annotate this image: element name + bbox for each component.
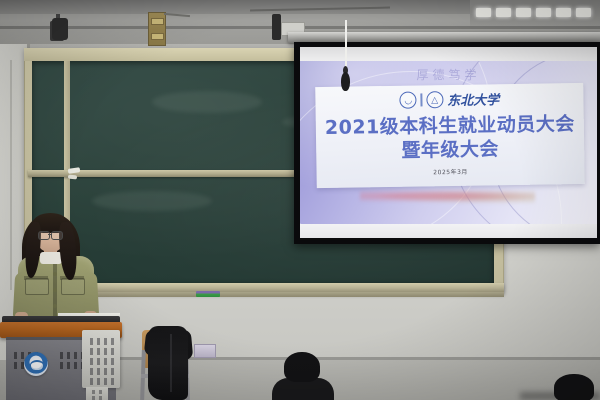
chalk-icon[interactable] — [68, 175, 77, 180]
slide-floral-ornament — [360, 188, 535, 204]
ceiling-lights — [470, 0, 600, 26]
light-tube — [496, 8, 511, 17]
university-seal-triangle-icon: △ — [426, 91, 443, 108]
seal-glyph: ◡ — [404, 96, 412, 105]
seal-glyph: △ — [431, 96, 438, 105]
slide-content-card: ◡ △ 东北大学 2021级本科生就业动员大会 暨年级大会 2025年3月 — [315, 83, 585, 188]
jacket-button — [53, 288, 57, 292]
board-eraser-icon[interactable] — [196, 291, 220, 297]
light-tube — [556, 8, 571, 17]
logo-divider — [421, 93, 423, 106]
eyeglasses-bridge — [48, 234, 52, 235]
jacket-button — [53, 304, 57, 308]
classroom-photo: 厚德笃学 ◡ △ 东北大学 2021级本科生就业动员大会 暨年级大会 2025年… — [0, 0, 600, 400]
wall-shelf-box — [194, 344, 216, 358]
door-seam — [10, 60, 12, 290]
audience-member-head — [284, 352, 320, 382]
podium-base-vent — [92, 390, 102, 400]
screen-blank-bottom — [300, 224, 597, 238]
slide-date: 2025年3月 — [317, 165, 585, 178]
screen-cord-handle[interactable] — [341, 72, 350, 91]
wall-control-box[interactable] — [148, 12, 166, 46]
presenter-collar — [40, 252, 62, 264]
jacket-button — [53, 272, 57, 276]
loudspeaker-icon — [272, 14, 281, 40]
draped-coat[interactable] — [148, 326, 188, 400]
podium-side-vent — [90, 338, 114, 385]
chalk-smudge — [152, 91, 262, 113]
light-tube — [516, 8, 531, 17]
coat-seam — [170, 334, 172, 392]
eyeglasses-icon — [51, 231, 63, 240]
jacket-pocket — [25, 278, 49, 295]
chalk-smudge — [92, 191, 212, 211]
loudspeaker-icon — [52, 18, 68, 40]
slide-title-line-2: 暨年级大会 — [316, 133, 584, 164]
control-indicator — [151, 18, 164, 25]
light-tube — [536, 8, 551, 17]
university-wordmark: 东北大学 — [447, 89, 499, 109]
control-indicator — [151, 33, 164, 40]
light-tube — [576, 8, 591, 17]
podium-vent — [60, 352, 84, 369]
university-seal-circle-icon: ◡ — [400, 92, 417, 109]
light-tube — [476, 8, 491, 17]
eyeglasses-icon — [38, 231, 50, 240]
slide-logo-row: ◡ △ 东北大学 — [315, 88, 583, 111]
audience-member-head — [554, 374, 594, 400]
podium-crest-glyph — [30, 360, 44, 370]
jacket-pocket — [61, 278, 85, 295]
